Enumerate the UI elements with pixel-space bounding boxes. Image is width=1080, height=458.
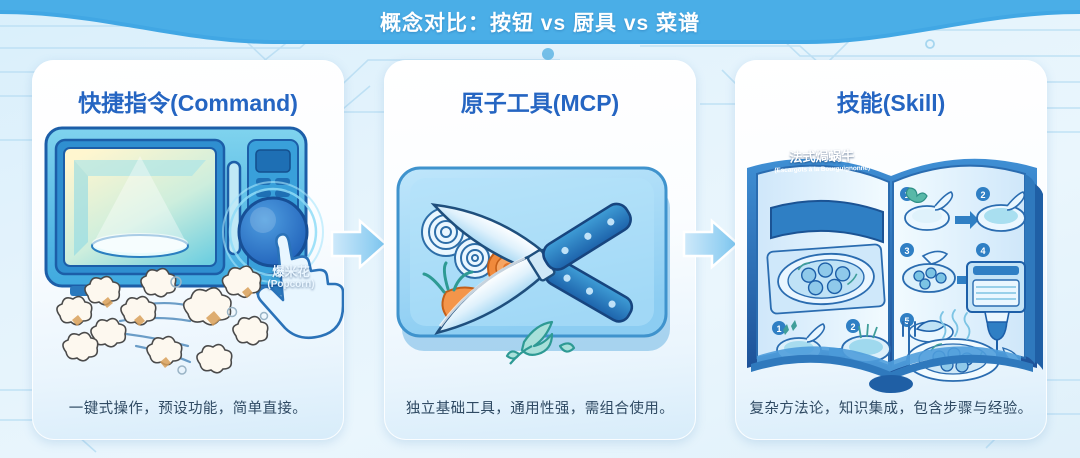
svg-text:2: 2: [980, 190, 985, 200]
microwave-illustration: [32, 116, 344, 416]
page-title: 概念对比：按钮 vs 厨具 vs 菜谱: [0, 0, 1080, 44]
recipe-title-cn: 法式焗蜗牛: [757, 148, 887, 166]
knives-cutting-board-illustration: [384, 116, 696, 416]
card-skill[interactable]: 技能(Skill): [735, 60, 1047, 440]
title-banner: 概念对比：按钮 vs 厨具 vs 菜谱: [0, 0, 1080, 52]
svg-text:4: 4: [980, 246, 985, 256]
svg-text:1: 1: [776, 324, 781, 334]
card-title-mcp: 原子工具(MCP): [384, 84, 696, 118]
svg-text:3: 3: [904, 246, 909, 256]
card-title-skill: 技能(Skill): [735, 84, 1047, 118]
card-command[interactable]: 快捷指令(Command): [32, 60, 344, 440]
arrow-command-to-mcp: [330, 218, 388, 270]
arrow-mcp-to-skill: [682, 218, 740, 270]
card-caption-command: 一键式操作，预设功能，简单直接。: [32, 397, 344, 418]
svg-text:2: 2: [850, 322, 855, 332]
card-mcp[interactable]: 原子工具(MCP): [384, 60, 696, 440]
card-title-command: 快捷指令(Command): [32, 84, 344, 118]
poster-canvas: 概念对比：按钮 vs 厨具 vs 菜谱 快捷指令(Command): [0, 0, 1080, 458]
recipe-title: 法式焗蜗牛 (Escargots à la Bourguignonne): [757, 148, 888, 175]
card-caption-mcp: 独立基础工具，通用性强，需组合使用。: [384, 397, 696, 418]
card-caption-skill: 复杂方法论，知识集成，包含步骤与经验。: [735, 397, 1047, 418]
